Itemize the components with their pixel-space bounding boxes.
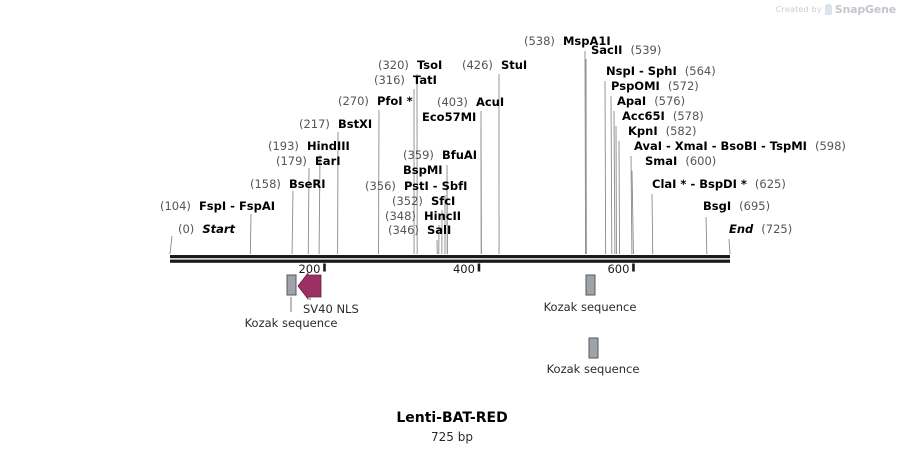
ruler-tick-mark	[478, 264, 481, 272]
enzyme-label-sali[interactable]: (346) SalI	[388, 224, 451, 237]
enzyme-name-fspi: FspI - FspAI	[199, 199, 275, 213]
enzyme-position-fspi: (104)	[160, 199, 191, 213]
enzyme-name-acui: AcuI	[476, 95, 504, 109]
feature-label-sv40-nls[interactable]: SV40 NLS	[303, 302, 359, 316]
enzyme-site-leader-apai	[614, 111, 615, 254]
enzyme-name-smai: SmaI	[645, 154, 677, 168]
feature-glyph-kozak-3[interactable]	[589, 338, 598, 358]
enzyme-name-kpni: KpnI	[628, 124, 658, 138]
enzyme-label-psti[interactable]: (356) PstI - SbfI	[365, 180, 467, 193]
enzyme-label-tsoi[interactable]: (320) TsoI	[378, 59, 442, 72]
enzyme-position-tsoi: (320)	[378, 58, 409, 72]
enzyme-label-bsgi[interactable]: BsgI (695)	[703, 200, 770, 213]
enzyme-name-acc65i: Acc65I	[622, 109, 665, 123]
backbone-strand-top	[170, 255, 730, 258]
enzyme-site-leader-mspa1i	[585, 51, 586, 254]
enzyme-label-acc65i[interactable]: Acc65I (578)	[622, 110, 704, 123]
enzyme-position-smai: (600)	[685, 154, 716, 168]
enzyme-position-end: (725)	[761, 222, 792, 236]
enzyme-label-start[interactable]: (0) Start	[178, 223, 235, 236]
enzyme-position-nspi: (564)	[685, 64, 716, 78]
enzyme-site-leader-start	[170, 236, 172, 254]
enzyme-name-bspmi: BspMI	[403, 163, 443, 177]
enzyme-position-pspomi: (572)	[668, 79, 699, 93]
enzyme-label-hindiii[interactable]: (193) HindIII	[268, 140, 350, 153]
enzyme-label-pfoi[interactable]: (270) PfoI *	[338, 95, 413, 108]
enzyme-name-bseri: BseRI	[289, 177, 326, 191]
enzyme-position-sfci: (352)	[392, 194, 423, 208]
enzyme-name-start: Start	[202, 222, 235, 236]
enzyme-position-apai: (576)	[654, 94, 685, 108]
enzyme-position-mspa1i: (538)	[524, 34, 555, 48]
enzyme-label-eco57mi[interactable]: Eco57MI	[422, 111, 476, 124]
enzyme-label-bspmi[interactable]: BspMI	[403, 164, 443, 177]
enzyme-position-bstxi: (217)	[299, 117, 330, 131]
feature-glyph-sv40-nls[interactable]	[298, 273, 321, 299]
enzyme-label-acui[interactable]: (403) AcuI	[437, 96, 504, 109]
enzyme-label-clai[interactable]: ClaI * - BspDI * (625)	[652, 178, 786, 191]
construct-length: 725 bp	[0, 430, 904, 444]
enzyme-name-nspi: NspI - SphI	[606, 64, 677, 78]
enzyme-site-leader-clai	[652, 194, 653, 254]
enzyme-label-hincii[interactable]: (348) HincII	[385, 210, 461, 223]
enzyme-label-smai[interactable]: SmaI (600)	[645, 155, 716, 168]
feature-label-kozak-3[interactable]: Kozak sequence	[547, 362, 640, 376]
enzyme-name-apai: ApaI	[617, 94, 646, 108]
enzyme-name-pspomi: PspOMI	[611, 79, 660, 93]
enzyme-name-sfci: SfcI	[431, 194, 455, 208]
enzyme-label-end[interactable]: End (725)	[729, 223, 792, 236]
enzyme-position-avai: (598)	[815, 139, 846, 153]
construct-title: Lenti-BAT-RED	[0, 410, 904, 426]
enzyme-position-hindiii: (193)	[268, 139, 299, 153]
ruler-tick-label-400: 400	[453, 262, 475, 276]
enzyme-name-pfoi: PfoI *	[377, 94, 413, 108]
backbone-strand-bottom	[170, 260, 730, 263]
enzyme-label-kpni[interactable]: KpnI (582)	[628, 125, 697, 138]
feature-label-kozak-2[interactable]: Kozak sequence	[544, 300, 637, 314]
enzyme-name-end: End	[729, 222, 753, 236]
enzyme-label-bstxi[interactable]: (217) BstXI	[299, 118, 372, 131]
enzyme-position-clai: (625)	[755, 177, 786, 191]
enzyme-label-tati[interactable]: (316) TatI	[374, 74, 437, 87]
enzyme-label-avai[interactable]: AvaI - XmaI - BsoBI - TspMI (598)	[634, 140, 846, 153]
enzyme-position-bsgi: (695)	[739, 199, 770, 213]
enzyme-name-sali: SalI	[427, 223, 451, 237]
sequence-ruler	[323, 264, 635, 272]
enzyme-label-bseri[interactable]: (158) BseRI	[250, 178, 326, 191]
enzyme-label-sfci[interactable]: (352) SfcI	[392, 195, 455, 208]
enzyme-name-tsoi: TsoI	[417, 58, 442, 72]
ruler-tick-label-200: 200	[298, 262, 320, 276]
feature-glyph-kozak-1[interactable]	[287, 275, 296, 295]
enzyme-label-sacii[interactable]: SacII (539)	[591, 44, 661, 57]
enzyme-position-acc65i: (578)	[673, 109, 704, 123]
enzyme-site-leader-kpni	[619, 141, 620, 254]
ruler-tick-mark	[323, 264, 326, 272]
enzyme-position-acui: (403)	[437, 95, 468, 109]
enzyme-label-eari[interactable]: (179) EarI	[276, 155, 341, 168]
enzyme-label-stui[interactable]: (426) StuI	[462, 59, 527, 72]
enzyme-name-psti: PstI - SbfI	[404, 179, 467, 193]
enzyme-name-sacii: SacII	[591, 43, 622, 57]
enzyme-position-tati: (316)	[374, 73, 405, 87]
enzyme-site-leader-bseri	[292, 191, 293, 254]
feature-label-kozak-1[interactable]: Kozak sequence	[245, 316, 338, 330]
enzyme-position-start: (0)	[178, 222, 194, 236]
enzyme-name-clai: ClaI * - BspDI *	[652, 177, 747, 191]
enzyme-site-leader-avai	[631, 156, 632, 254]
enzyme-position-bseri: (158)	[250, 177, 281, 191]
enzyme-site-leader-bsgi	[706, 217, 707, 254]
enzyme-name-eco57mi: Eco57MI	[422, 110, 476, 124]
enzyme-name-bstxi: BstXI	[338, 117, 372, 131]
enzyme-name-eari: EarI	[315, 154, 341, 168]
sequence-backbone	[170, 255, 730, 263]
enzyme-site-leader-nspi	[605, 81, 606, 254]
enzyme-position-psti: (356)	[365, 179, 396, 193]
enzyme-name-hincii: HincII	[424, 209, 461, 223]
enzyme-label-nspi[interactable]: NspI - SphI (564)	[606, 65, 716, 78]
enzyme-name-hindiii: HindIII	[307, 139, 350, 153]
feature-glyph-kozak-2[interactable]	[586, 275, 595, 295]
enzyme-site-leader-pspomi	[611, 96, 612, 254]
enzyme-site-leader-fspi	[250, 214, 251, 254]
enzyme-position-hincii: (348)	[385, 209, 416, 223]
enzyme-label-fspi[interactable]: (104) FspI - FspAI	[160, 200, 275, 213]
enzyme-label-bufai[interactable]: (359) BfuAI	[403, 149, 477, 162]
ruler-tick-mark	[632, 264, 635, 272]
enzyme-label-pspomi[interactable]: PspOMI (572)	[611, 80, 699, 93]
enzyme-position-kpni: (582)	[666, 124, 697, 138]
enzyme-name-bufai: BfuAI	[442, 148, 477, 162]
enzyme-name-bsgi: BsgI	[703, 199, 731, 213]
enzyme-site-leader-end	[729, 239, 730, 254]
enzyme-position-bufai: (359)	[403, 148, 434, 162]
enzyme-site-leader-hindiii	[319, 155, 320, 254]
enzyme-position-sali: (346)	[388, 223, 419, 237]
enzyme-position-pfoi: (270)	[338, 94, 369, 108]
enzyme-position-sacii: (539)	[630, 43, 661, 57]
enzyme-name-avai: AvaI - XmaI - BsoBI - TspMI	[634, 139, 807, 153]
enzyme-name-stui: StuI	[501, 58, 527, 72]
enzyme-position-stui: (426)	[462, 58, 493, 72]
enzyme-position-eari: (179)	[276, 154, 307, 168]
enzyme-label-apai[interactable]: ApaI (576)	[617, 95, 685, 108]
enzyme-name-tati: TatI	[413, 73, 437, 87]
ruler-tick-label-600: 600	[607, 262, 629, 276]
